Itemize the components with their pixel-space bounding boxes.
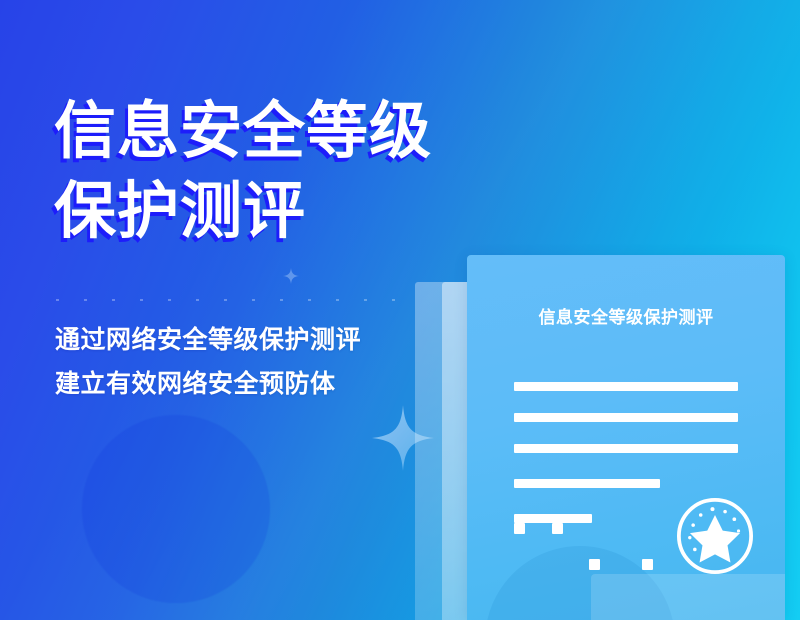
certificate-title: 信息安全等级保护测评	[467, 303, 785, 328]
certificate-content-bar	[514, 479, 660, 488]
headline-line-1: 信息安全等级	[54, 92, 574, 172]
background-circle-decoration	[82, 415, 270, 603]
certificate-content-bar	[514, 514, 592, 523]
certificate-content-bar	[514, 413, 738, 422]
subtitle-line-2: 建立有效网络安全预防体	[55, 362, 361, 406]
certificate-card: 信息安全等级保护测评	[467, 255, 785, 620]
certificate-content-bar	[514, 444, 738, 453]
headline-line-2: 保护测评	[54, 172, 574, 252]
dotted-divider	[56, 299, 401, 301]
certificate-content-bar	[514, 382, 738, 391]
certificate-content-dot	[514, 523, 525, 534]
subtitle: 通过网络安全等级保护测评 建立有效网络安全预防体	[55, 318, 361, 406]
certificate-stack: 信息安全等级保护测评	[410, 255, 800, 620]
page-title: 信息安全等级 保护测评	[54, 92, 574, 252]
certificate-content-dot	[552, 523, 563, 534]
promo-banner: 信息安全等级 保护测评 通过网络安全等级保护测评 建立有效网络安全预防体	[0, 0, 800, 620]
sparkle-small-icon	[283, 268, 299, 284]
star-seal-icon	[673, 494, 757, 578]
certificate-content-dot	[642, 559, 653, 570]
certificate-content-dot	[589, 559, 600, 570]
subtitle-line-1: 通过网络安全等级保护测评	[55, 318, 361, 362]
